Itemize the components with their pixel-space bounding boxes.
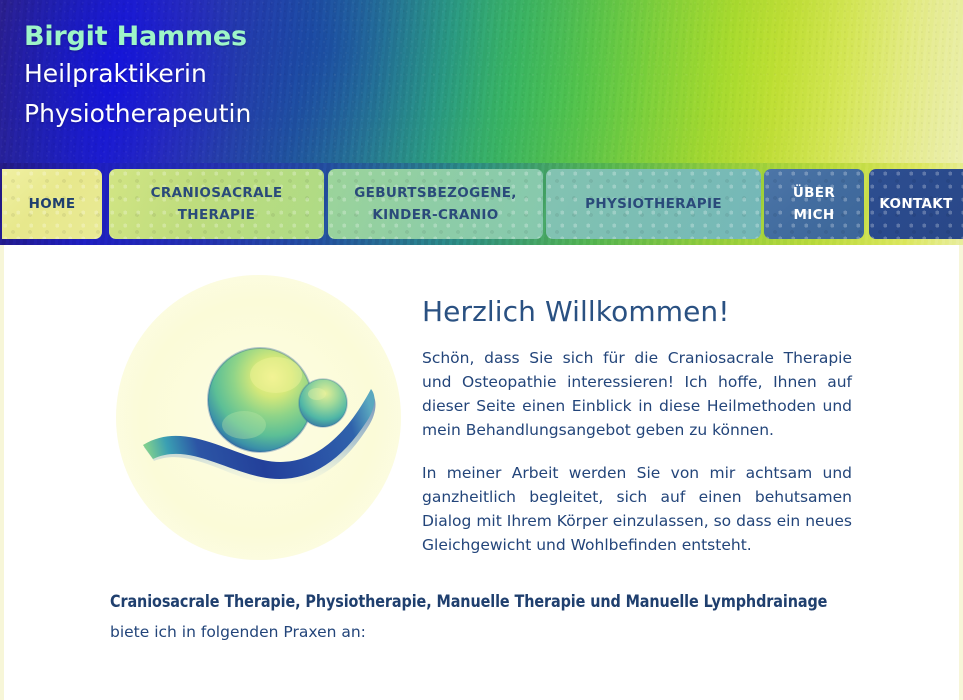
nav-item-physiotherapie[interactable]: PHYSIOTHERAPIE — [546, 169, 761, 239]
nav-label-line-1: GEBURTSBEZOGENE, — [354, 185, 517, 201]
nav-label-line-1: CRANIOSACRALE — [151, 185, 283, 201]
logo-illustration-icon — [116, 275, 401, 560]
nav-item-geburtsbezogene-kinder-cranio[interactable]: GEBURTSBEZOGENE, KINDER-CRANIO — [328, 169, 543, 239]
brand-role-line-2: Physiotherapeutin — [24, 94, 251, 134]
nav-item-home[interactable]: HOME — [2, 169, 102, 239]
nav-item-physiotherapie-label: PHYSIOTHERAPIE — [585, 193, 722, 215]
nav-item-ueber-mich[interactable]: ÜBER MICH — [764, 169, 864, 239]
welcome-title: Herzlich Willkommen! — [422, 295, 852, 329]
nav-label-line-2: MICH — [793, 207, 834, 223]
main-navigation: HOME CRANIOSACRALE THERAPIE GEBURTSBEZOG… — [0, 163, 963, 245]
brand-role-line-1: Heilpraktikerin — [24, 54, 251, 94]
nav-item-kontakt[interactable]: KONTAKT — [869, 169, 963, 239]
nav-label-line-1: ÜBER — [793, 185, 835, 201]
nav-item-kontakt-label: KONTAKT — [879, 193, 952, 215]
welcome-paragraph-2: In meiner Arbeit werden Sie von mir acht… — [422, 461, 852, 557]
brand-block: Birgit Hammes Heilpraktikerin Physiother… — [24, 20, 251, 134]
nav-item-geburtsbezogene-kinder-cranio-label: GEBURTSBEZOGENE, KINDER-CRANIO — [354, 182, 517, 226]
services-heading: Craniosacrale Therapie, Physiotherapie, … — [110, 590, 862, 614]
services-section: Craniosacrale Therapie, Physiotherapie, … — [110, 590, 910, 645]
nav-label-line-2: KINDER-CRANIO — [372, 207, 498, 223]
nav-item-ueber-mich-label: ÜBER MICH — [793, 182, 835, 226]
brand-name: Birgit Hammes — [24, 20, 251, 54]
main-content: Herzlich Willkommen! Schön, dass Sie sic… — [0, 245, 963, 700]
practice-logo — [116, 275, 401, 560]
site-header-banner: Birgit Hammes Heilpraktikerin Physiother… — [0, 0, 963, 163]
nav-item-home-label: HOME — [29, 193, 76, 215]
welcome-section: Herzlich Willkommen! Schön, dass Sie sic… — [422, 295, 852, 557]
welcome-paragraph-1: Schön, dass Sie sich für die Craniosacra… — [422, 346, 852, 442]
page-root: Birgit Hammes Heilpraktikerin Physiother… — [0, 0, 963, 700]
services-subline: biete ich in folgenden Praxen an: — [110, 619, 910, 645]
nav-item-craniosacrale-therapie-label: CRANIOSACRALE THERAPIE — [151, 182, 283, 226]
nav-item-craniosacrale-therapie[interactable]: CRANIOSACRALE THERAPIE — [109, 169, 324, 239]
nav-label-line-2: THERAPIE — [178, 207, 256, 223]
